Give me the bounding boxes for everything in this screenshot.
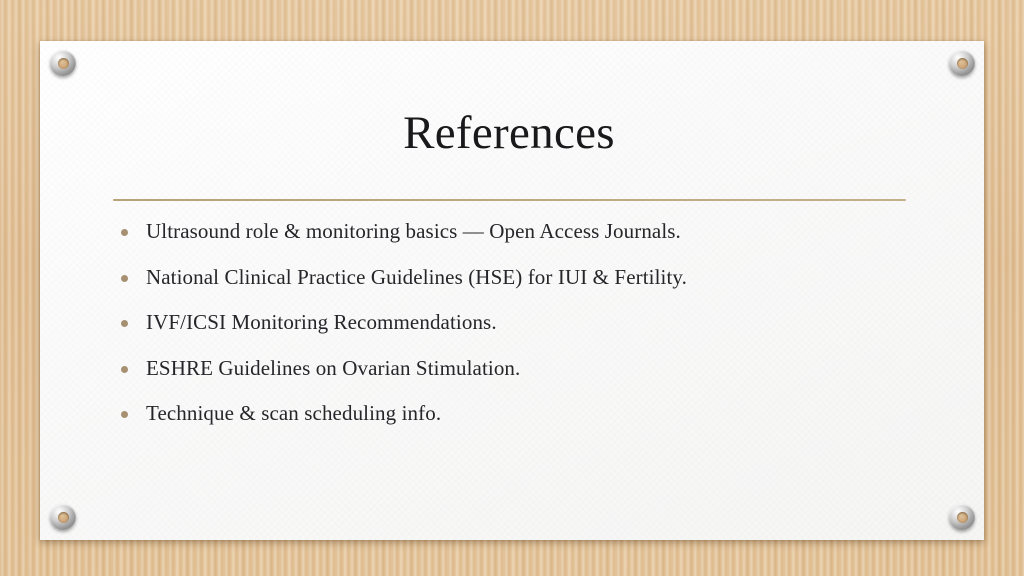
list-item: Ultrasound role & monitoring basics — Op… — [118, 220, 918, 243]
title-divider — [113, 199, 906, 201]
list-item: National Clinical Practice Guidelines (H… — [118, 266, 918, 289]
list-item-label: Technique & scan scheduling info. — [146, 401, 441, 425]
grommet-bottom-left-icon — [50, 504, 76, 530]
list-item: Technique & scan scheduling info. — [118, 402, 918, 425]
grommet-top-right-icon — [949, 50, 975, 76]
list-item-label: IVF/ICSI Monitoring Recommendations. — [146, 310, 497, 334]
bullet-dot-icon — [121, 275, 128, 282]
bullet-dot-icon — [121, 229, 128, 236]
bullet-dot-icon — [121, 320, 128, 327]
slide-root: References Ultrasound role & monitoring … — [0, 0, 1024, 576]
grommet-top-left-icon — [50, 50, 76, 76]
bullet-dot-icon — [121, 366, 128, 373]
list-item-label: ESHRE Guidelines on Ovarian Stimulation. — [146, 356, 520, 380]
slide-title: References — [112, 106, 906, 160]
grommet-bottom-right-icon — [949, 504, 975, 530]
bullet-dot-icon — [121, 411, 128, 418]
list-item: ESHRE Guidelines on Ovarian Stimulation. — [118, 357, 918, 380]
list-item-label: Ultrasound role & monitoring basics — Op… — [146, 219, 681, 243]
reference-list: Ultrasound role & monitoring basics — Op… — [118, 220, 918, 448]
list-item: IVF/ICSI Monitoring Recommendations. — [118, 311, 918, 334]
list-item-label: National Clinical Practice Guidelines (H… — [146, 265, 687, 289]
